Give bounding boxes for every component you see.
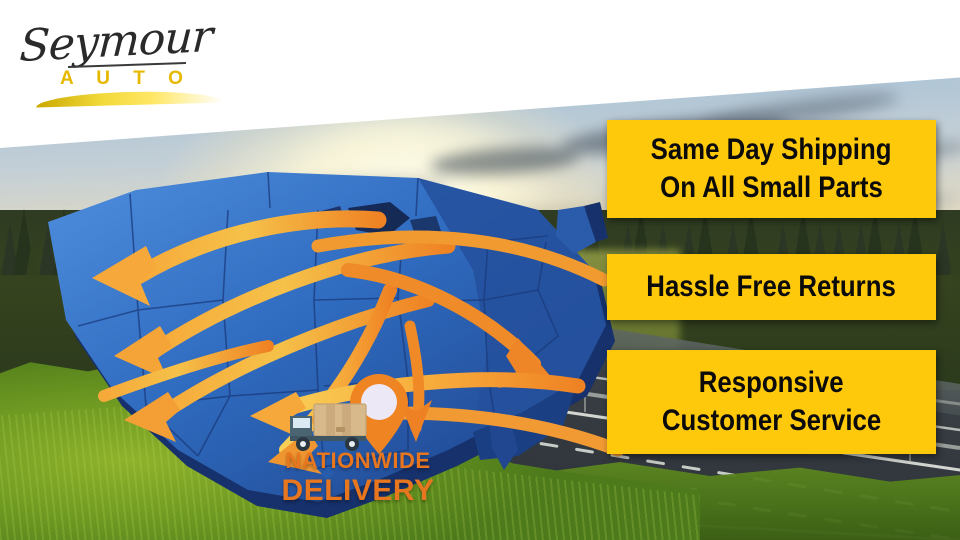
delivery-truck-icon bbox=[286, 398, 382, 454]
usa-map-graphic: NATIONWIDE DELIVERY bbox=[18, 150, 638, 530]
promotional-banner: Seymour A U T O bbox=[0, 0, 960, 540]
logo-sub-name: A U T O bbox=[60, 68, 192, 90]
brand-logo[interactable]: Seymour A U T O bbox=[14, 14, 224, 100]
feature-banner-returns[interactable]: Hassle Free Returns bbox=[607, 254, 936, 320]
banner-2-line-1: Hassle Free Returns bbox=[647, 272, 897, 303]
banner-1-line-2: On All Small Parts bbox=[660, 173, 883, 204]
map-label-line1: NATIONWIDE bbox=[258, 450, 458, 472]
banner-3-line-1: Responsive bbox=[699, 368, 844, 399]
banner-1-line-1: Same Day Shipping bbox=[651, 135, 892, 166]
banner-3-line-2: Customer Service bbox=[662, 406, 881, 437]
feature-banner-service[interactable]: Responsive Customer Service bbox=[607, 350, 936, 454]
feature-banner-shipping[interactable]: Same Day Shipping On All Small Parts bbox=[607, 120, 936, 218]
nationwide-delivery-label: NATIONWIDE DELIVERY bbox=[258, 450, 458, 506]
map-label-line2: DELIVERY bbox=[258, 476, 458, 506]
